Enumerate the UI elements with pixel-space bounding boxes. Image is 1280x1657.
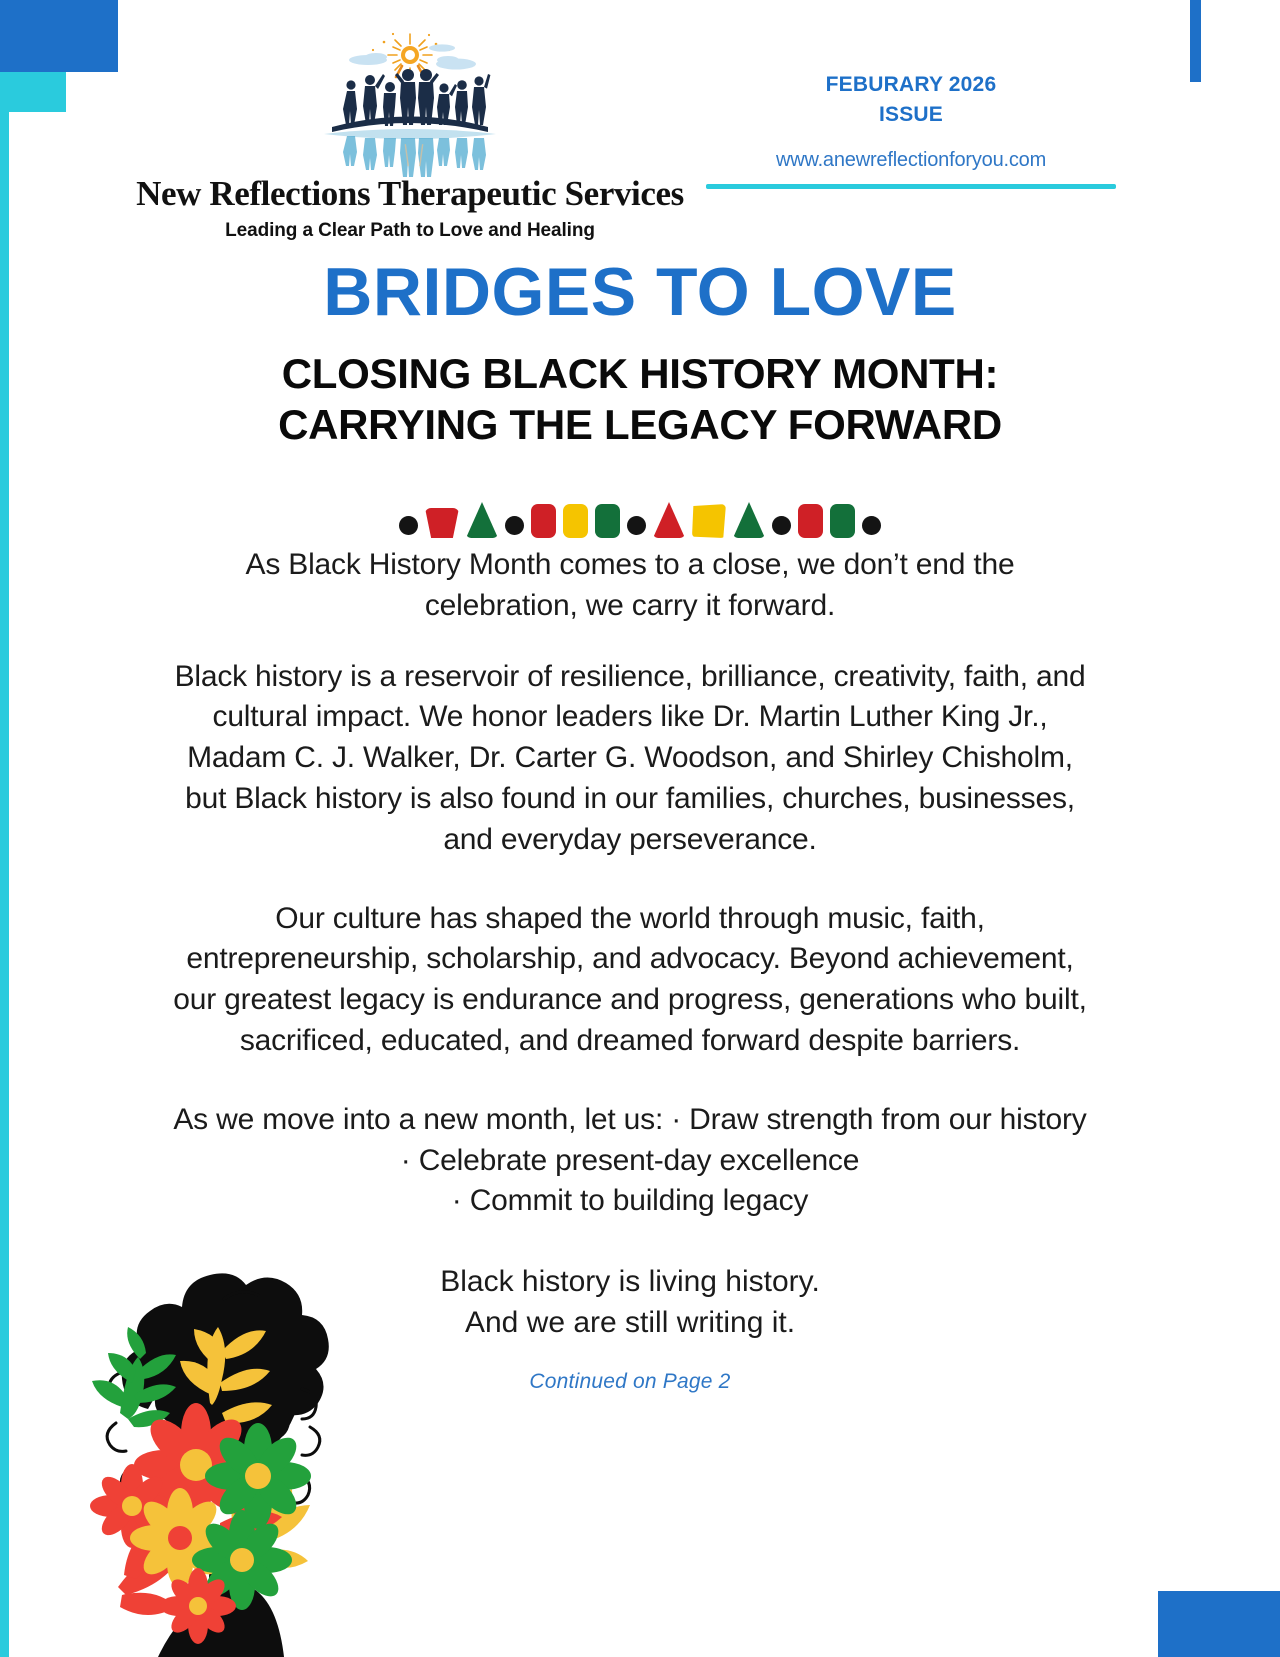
corner-block-bottom-right — [1158, 1591, 1280, 1657]
cta-line-2: · Celebrate present-day excellence — [170, 1141, 1090, 1182]
feature-headline-line-2: CARRYING THE LEGACY FORWARD — [0, 399, 1280, 450]
reflections-logo-icon — [310, 28, 510, 178]
cta-line-3: · Commit to building legacy — [170, 1181, 1090, 1222]
kente-divider — [0, 492, 1280, 538]
brand-tagline: Leading a Clear Path to Love and Healing — [120, 220, 700, 242]
website-link[interactable]: www.anewreflectionforyou.com — [706, 149, 1116, 172]
header-rule — [706, 184, 1116, 189]
divider-shape-tri-up — [653, 502, 685, 538]
masthead: BRIDGES TO LOVE CLOSING BLACK HISTORY MO… — [0, 258, 1280, 450]
paragraph-lead: As Black History Month comes to a close,… — [170, 545, 1090, 627]
divider-shape-bar — [595, 504, 620, 538]
divider-shape-bar — [563, 504, 588, 538]
feature-headline-line-1: CLOSING BLACK HISTORY MONTH: — [0, 348, 1280, 399]
divider-shape-dot — [862, 516, 881, 535]
divider-shape-bar — [531, 504, 556, 538]
divider-shape-tri-up — [733, 502, 765, 538]
divider-shape-quad — [692, 504, 726, 538]
paragraph-two: Black history is a reservoir of resilien… — [170, 657, 1090, 861]
woman-silhouette-with-flowers-illustration — [62, 1237, 372, 1657]
divider-shape-dot — [627, 516, 646, 535]
paragraph-three: Our culture has shaped the world through… — [170, 899, 1090, 1062]
divider-shape-trap-down — [425, 508, 459, 538]
newsletter-title: BRIDGES TO LOVE — [0, 258, 1280, 326]
divider-shape-dot — [399, 516, 418, 535]
page-header: New Reflections Therapeutic Services Lea… — [0, 0, 1280, 260]
divider-shape-bar — [798, 504, 823, 538]
call-to-action-list: As we move into a new month, let us: · D… — [170, 1100, 1090, 1222]
divider-shape-dot — [772, 516, 791, 535]
divider-shape-tri-up — [466, 502, 498, 538]
cta-line-1: As we move into a new month, let us: · D… — [170, 1100, 1090, 1141]
divider-shape-dot — [505, 516, 524, 535]
issue-month: FEBURARY 2026 — [706, 70, 1116, 100]
brand-logo-block: New Reflections Therapeutic Services Lea… — [120, 28, 700, 242]
feature-headline: CLOSING BLACK HISTORY MONTH: CARRYING TH… — [0, 348, 1280, 450]
issue-label: ISSUE — [706, 100, 1116, 130]
issue-info-block: FEBURARY 2026 ISSUE www.anewreflectionfo… — [706, 70, 1116, 189]
newsletter-page: New Reflections Therapeutic Services Lea… — [0, 0, 1280, 1657]
brand-name: New Reflections Therapeutic Services — [120, 174, 700, 214]
divider-shape-bar — [830, 504, 855, 538]
